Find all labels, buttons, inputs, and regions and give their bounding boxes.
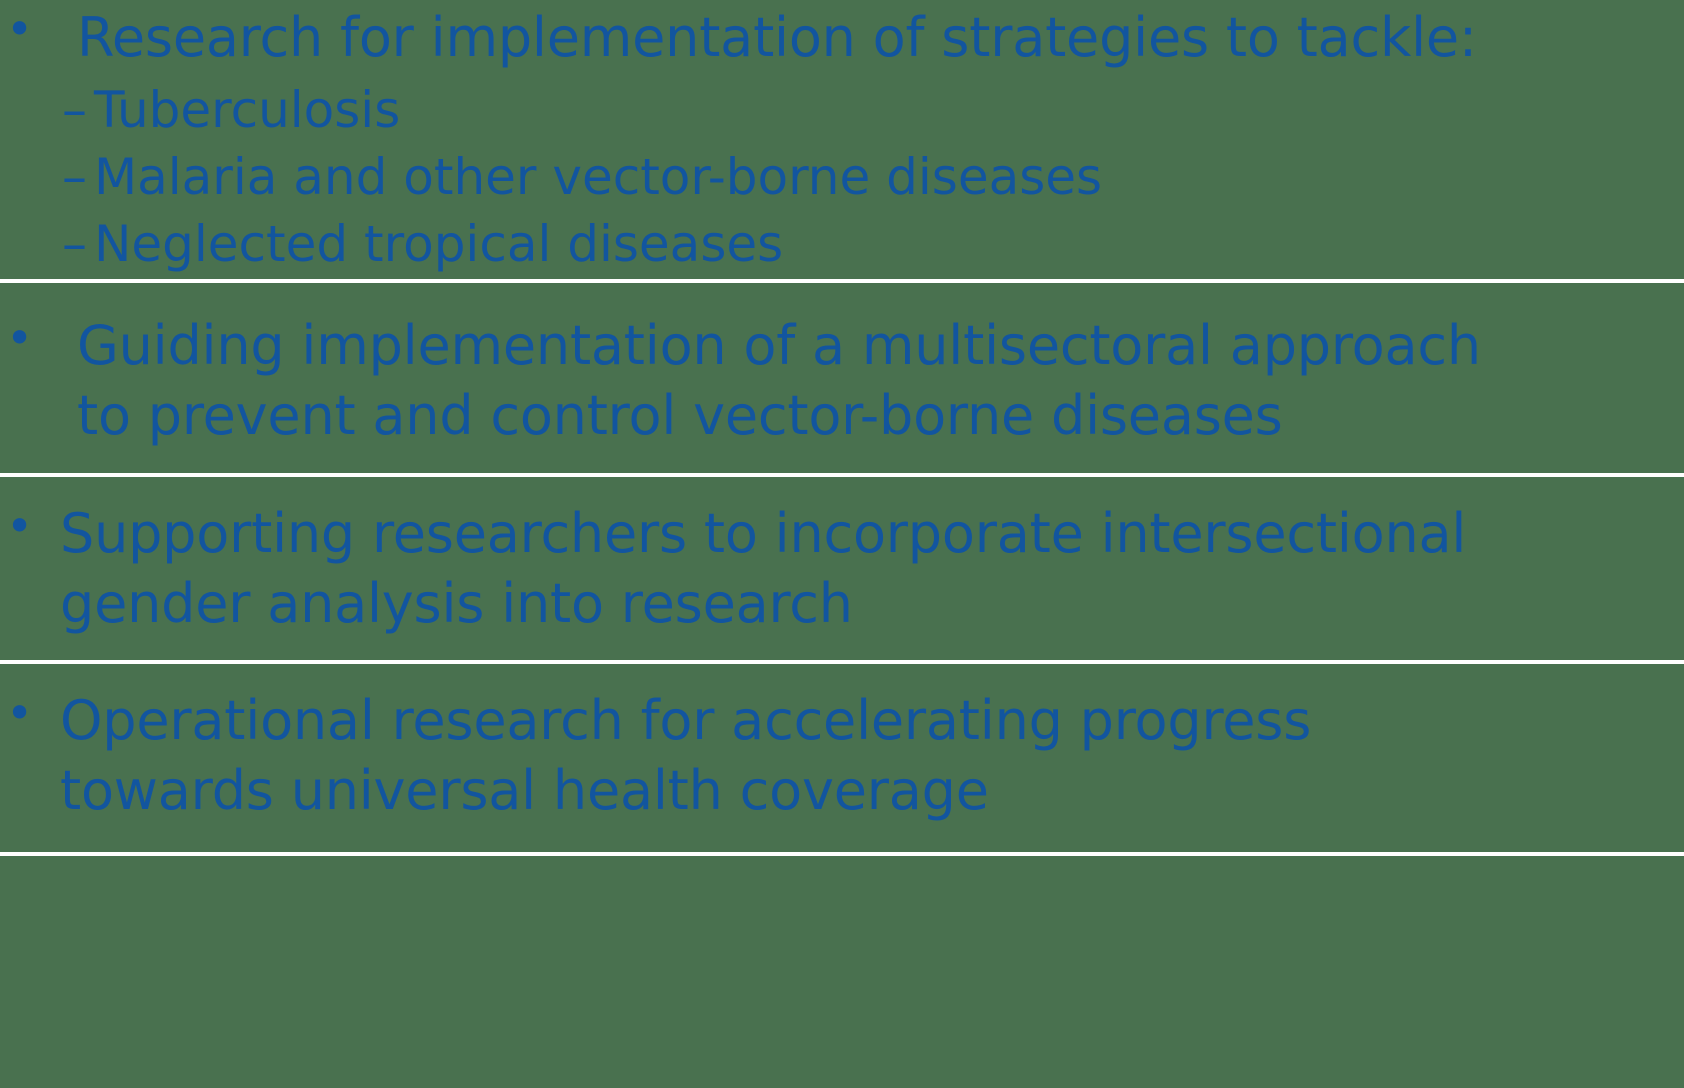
bullet-item-label: Guiding implementation of a multisectora… — [60, 311, 1481, 451]
bullet-item: • Guiding implementation of a multisecto… — [0, 311, 1684, 451]
dash-icon: – — [62, 78, 94, 143]
bullet-item-label: Operational research for accelerating pr… — [60, 686, 1311, 826]
bottom-empty-area — [0, 856, 1684, 1026]
bullet-item-label: Research for implementation of strategie… — [60, 2, 1477, 74]
content-block-research: • Research for implementation of strateg… — [0, 0, 1684, 277]
dash-icon: – — [62, 145, 94, 210]
sub-bullet-item-label: Malaria and other vector-borne diseases — [94, 145, 1102, 210]
bullet-item-label: Supporting researchers to incorporate in… — [60, 499, 1466, 639]
sub-bullet-item-label: Tuberculosis — [94, 78, 400, 143]
slide-canvas: • Research for implementation of strateg… — [0, 0, 1684, 1088]
sub-bullet-item: – Neglected tropical diseases — [0, 212, 1684, 277]
sub-bullet-item: – Tuberculosis — [0, 78, 1684, 143]
dash-icon: – — [62, 212, 94, 277]
bullet-dot-icon: • — [0, 2, 60, 56]
bullet-item: • Research for implementation of strateg… — [0, 2, 1684, 74]
sub-bullet-item: – Malaria and other vector-borne disease… — [0, 145, 1684, 210]
bullet-dot-icon: • — [0, 686, 60, 740]
bullet-dot-icon: • — [0, 499, 60, 553]
content-block-guiding: • Guiding implementation of a multisecto… — [0, 283, 1684, 473]
sub-bullet-item-label: Neglected tropical diseases — [94, 212, 783, 277]
bullet-item: • Operational research for accelerating … — [0, 686, 1684, 826]
content-block-operational: • Operational research for accelerating … — [0, 664, 1684, 852]
bullet-item: • Supporting researchers to incorporate … — [0, 499, 1684, 639]
bullet-dot-icon: • — [0, 311, 60, 365]
content-block-supporting: • Supporting researchers to incorporate … — [0, 477, 1684, 659]
